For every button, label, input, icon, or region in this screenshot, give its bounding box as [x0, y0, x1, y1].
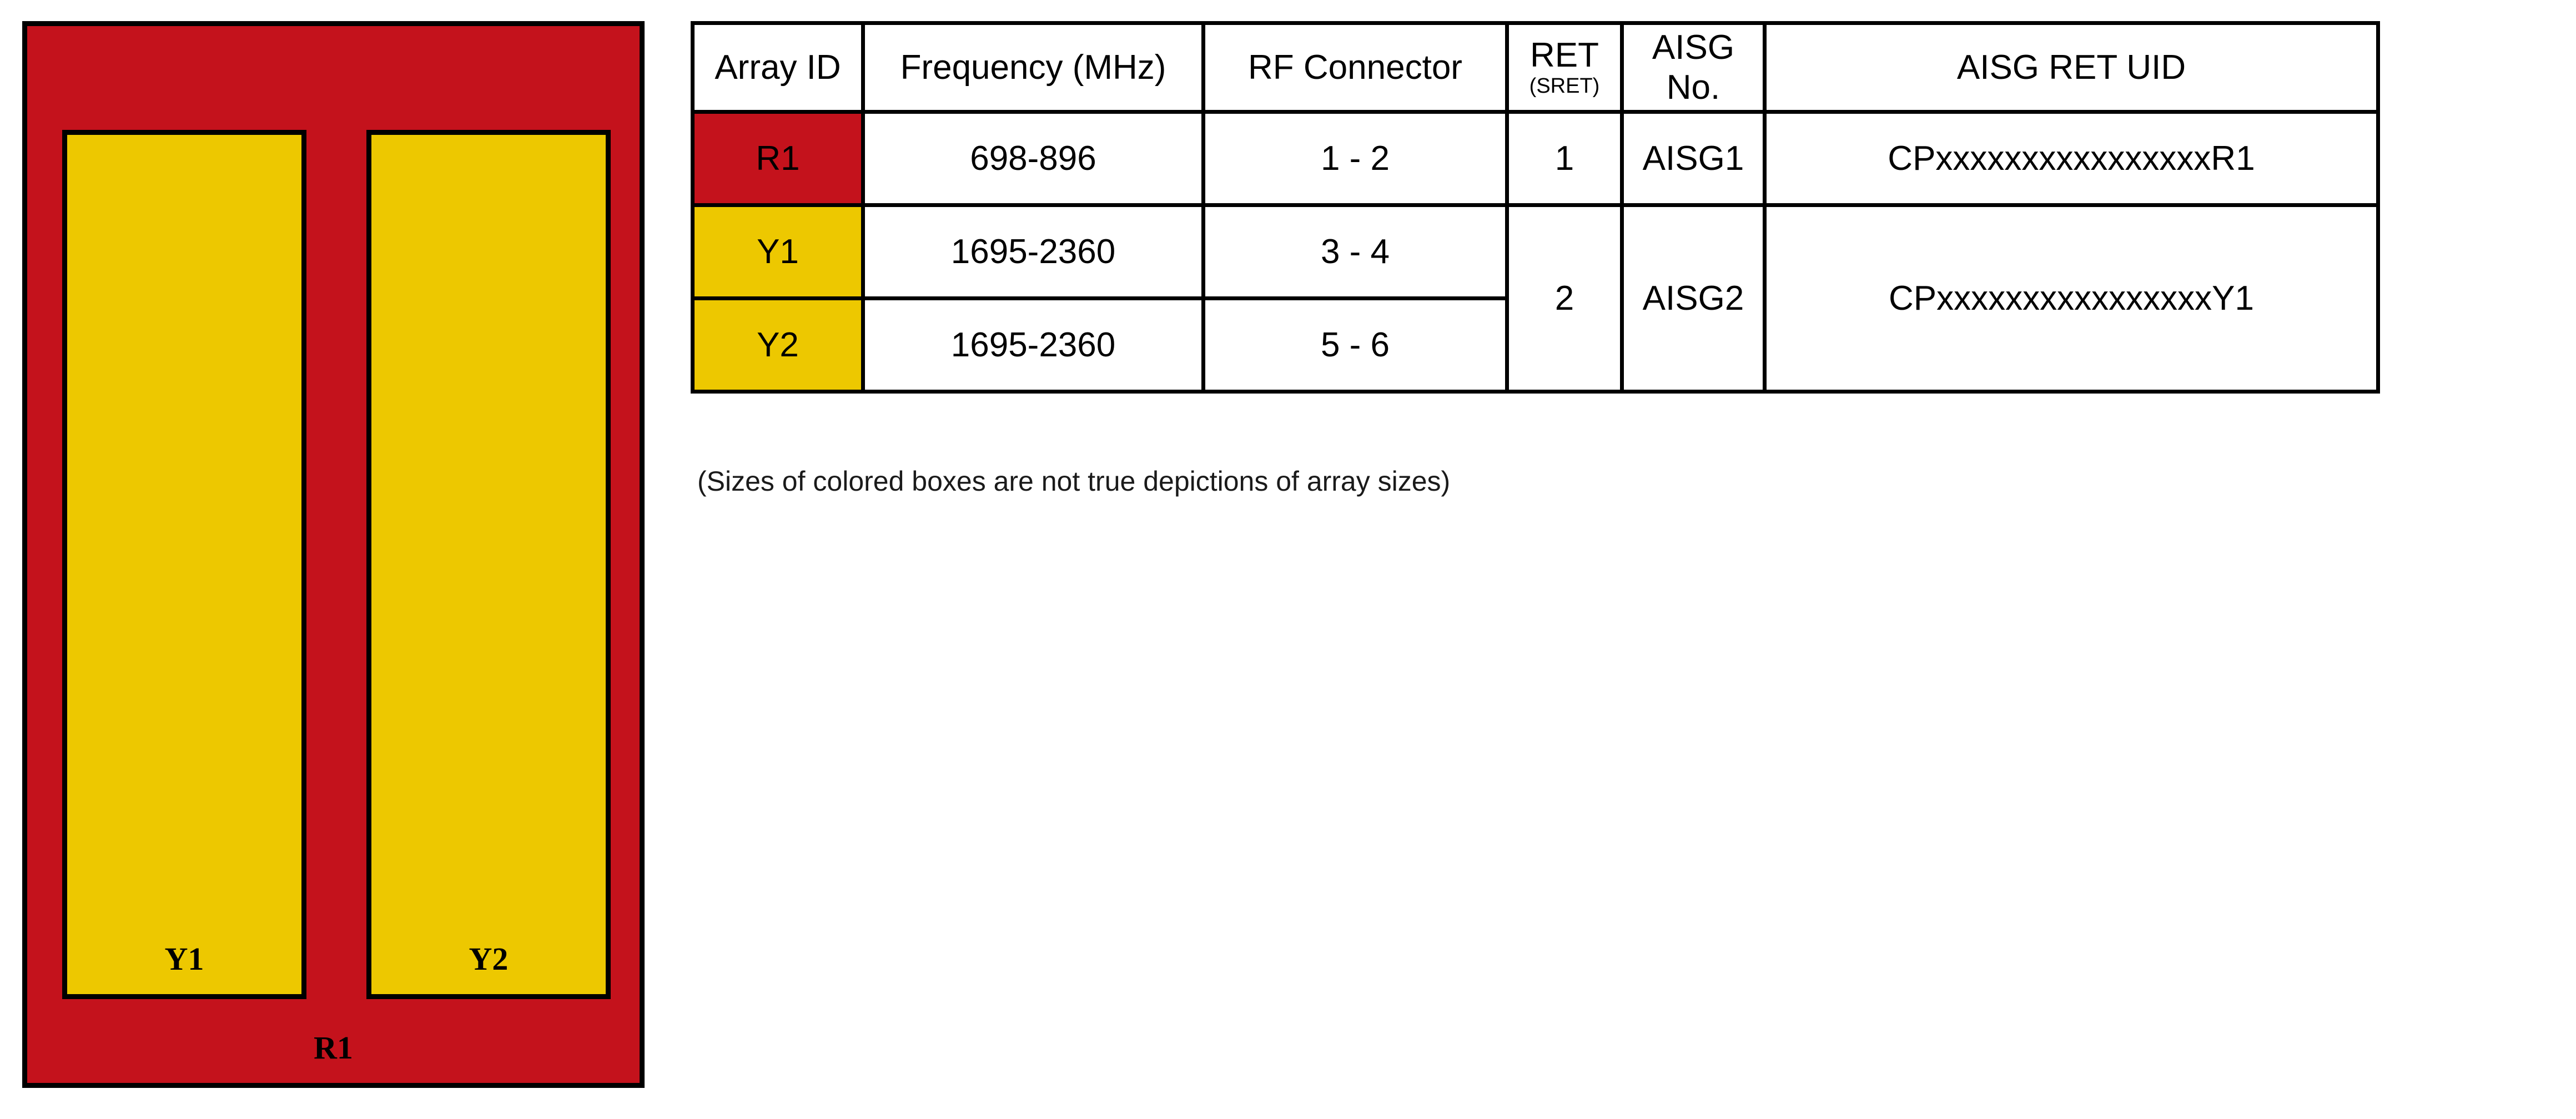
- cell-ret-r1: 1: [1507, 112, 1622, 205]
- cell-rf-connector-y1: 3 - 4: [1204, 205, 1507, 299]
- table-row: Y1 1695-2360 3 - 4 2 AISG2 CPxxxxxxxxxxx…: [693, 205, 2378, 299]
- cell-array-id-r1: R1: [693, 112, 863, 205]
- cell-frequency-r1: 698-896: [863, 112, 1204, 205]
- cell-array-id-y1: Y1: [693, 205, 863, 299]
- array-box-y1: Y1: [62, 130, 306, 999]
- cell-ret-y: 2: [1507, 205, 1622, 392]
- cell-frequency-y2: 1695-2360: [863, 299, 1204, 392]
- array-config-table: Array ID Frequency (MHz) RF Connector RE…: [691, 21, 2380, 394]
- cell-rf-connector-y2: 5 - 6: [1204, 299, 1507, 392]
- column-header-rf-connector: RF Connector: [1204, 23, 1507, 112]
- array-box-label-y1: Y1: [165, 943, 204, 994]
- column-header-array-id: Array ID: [693, 23, 863, 112]
- column-header-aisg-no: AISG No.: [1622, 23, 1765, 112]
- table-body: R1 698-896 1 - 2 1 AISG1 CPxxxxxxxxxxxxx…: [693, 112, 2378, 392]
- panel-label-r1: R1: [27, 1032, 640, 1064]
- column-header-frequency: Frequency (MHz): [863, 23, 1204, 112]
- antenna-panel-diagram: Y1 Y2 R1: [22, 21, 645, 1088]
- column-header-ret-sub: (SRET): [1509, 75, 1620, 98]
- table-caption-note: (Sizes of colored boxes are not true dep…: [697, 465, 1450, 497]
- array-box-label-y2: Y2: [469, 943, 509, 994]
- column-header-ret: RET (SRET): [1507, 23, 1622, 112]
- cell-rf-connector-r1: 1 - 2: [1204, 112, 1507, 205]
- table-row: R1 698-896 1 - 2 1 AISG1 CPxxxxxxxxxxxxx…: [693, 112, 2378, 205]
- array-config-table-container: Array ID Frequency (MHz) RF Connector RE…: [691, 21, 2353, 394]
- table-header-row: Array ID Frequency (MHz) RF Connector RE…: [693, 23, 2378, 112]
- cell-aisg-ret-uid-r1: CPxxxxxxxxxxxxxxxxR1: [1765, 112, 2378, 205]
- cell-aisg-no-y: AISG2: [1622, 205, 1765, 392]
- column-header-ret-main: RET: [1509, 37, 1620, 73]
- table-header: Array ID Frequency (MHz) RF Connector RE…: [693, 23, 2378, 112]
- cell-aisg-ret-uid-y: CPxxxxxxxxxxxxxxxxY1: [1765, 205, 2378, 392]
- cell-array-id-y2: Y2: [693, 299, 863, 392]
- column-header-aisg-ret-uid: AISG RET UID: [1765, 23, 2378, 112]
- cell-aisg-no-r1: AISG1: [1622, 112, 1765, 205]
- array-box-y2: Y2: [366, 130, 611, 999]
- cell-frequency-y1: 1695-2360: [863, 205, 1204, 299]
